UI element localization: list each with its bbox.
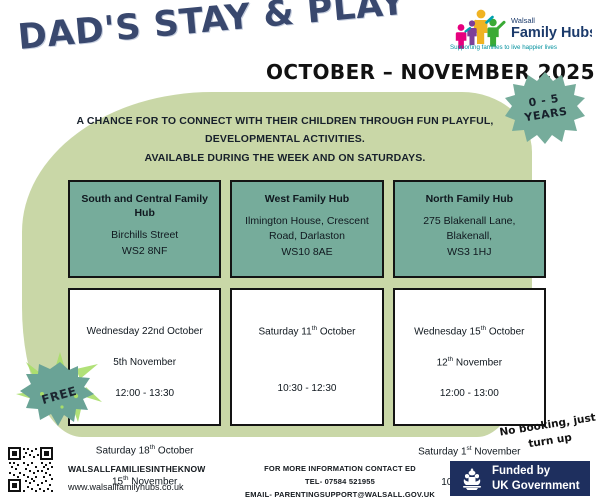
contact-line-1: FOR MORE INFORMATION CONTACT ED <box>232 462 448 475</box>
svg-text:Supporting families to live ha: Supporting families to live happier live… <box>450 44 557 51</box>
schedule-time: 12:00 - 13:00 <box>401 386 538 402</box>
contact-line-3: EMAIL- PARENTINGSUPPORT@WALSALL.GOV.UK <box>232 488 448 501</box>
walsall-family-hubs-logo: Walsall Family Hubs Supporting families … <box>448 6 592 52</box>
age-range-badge: 0 - 5 YEARS <box>505 72 585 144</box>
intro-line-2: DEVELOPMENTAL ACTIVITIES. <box>60 130 510 148</box>
venue-card-south-central: South and Central Family Hub Birchills S… <box>68 180 221 278</box>
schedule-day: Wednesday 22nd October <box>76 324 213 340</box>
poster-canvas: DAD'S STAY & PLAY OCTOBER – NOVEMBER 202… <box>0 0 600 501</box>
venue-name: West Family Hub <box>240 192 373 206</box>
qr-code[interactable] <box>7 446 54 493</box>
schedule-day: Saturday 11th October <box>238 324 375 340</box>
venue-card-north: North Family Hub 275 Blakenall Lane, Bla… <box>393 180 546 278</box>
schedule-day: Saturday 18th October <box>76 443 213 459</box>
schedule-card-west: Saturday 11th October 10:30 - 12:30 <box>230 288 383 426</box>
social-block: WALSALLFAMILIESINTHEKNOW www.walsallfami… <box>68 464 205 492</box>
venue-address: Birchills Street WS2 8NF <box>78 228 211 258</box>
intro-paragraph: A CHANCE FOR TO CONNECT WITH THEIR CHILD… <box>60 112 510 167</box>
venue-address: 275 Blakenall Lane, Blakenall, WS3 1HJ <box>403 214 536 260</box>
venue-row: South and Central Family Hub Birchills S… <box>68 180 546 278</box>
svg-text:Family Hubs: Family Hubs <box>511 25 592 41</box>
schedule-block: Wednesday 15th October 12th November 12:… <box>401 308 538 417</box>
schedule-day: Wednesday 15th October <box>401 324 538 340</box>
schedule-block: Saturday 11th October 10:30 - 12:30 <box>238 308 375 412</box>
funded-by-label: Funded by UK Government <box>492 464 580 492</box>
contact-block: FOR MORE INFORMATION CONTACT ED TEL- 075… <box>232 462 448 501</box>
funded-by-uk-government-logo: Funded by UK Government <box>450 461 590 496</box>
contact-line-2: TEL- 07584 521955 <box>232 475 448 488</box>
venue-address: Ilmington House, Crescent Road, Darlasto… <box>240 214 373 260</box>
schedule-card-north: Wednesday 15th October 12th November 12:… <box>393 288 546 426</box>
venue-name: North Family Hub <box>403 192 536 206</box>
qr-code-icon <box>7 446 54 493</box>
svg-text:Walsall: Walsall <box>511 16 535 25</box>
schedule-extra-day: 12th November <box>401 355 538 371</box>
intro-line-3: AVAILABLE DURING THE WEEK AND ON SATURDA… <box>60 149 510 167</box>
schedule-row: Wednesday 22nd October 5th November 12:0… <box>68 288 546 426</box>
free-badge: FREE <box>14 350 106 432</box>
page-title: DAD'S STAY & PLAY <box>16 0 407 58</box>
logo-figures-icon: Walsall Family Hubs Supporting families … <box>448 6 592 52</box>
schedule-time: 10:30 - 12:30 <box>238 381 375 397</box>
intro-line-1: A CHANCE FOR TO CONNECT WITH THEIR CHILD… <box>60 112 510 130</box>
royal-crest-icon <box>459 467 485 491</box>
website-url[interactable]: www.walsallfamilyhubs.co.uk <box>68 482 205 492</box>
social-handle: WALSALLFAMILIESINTHEKNOW <box>68 464 205 474</box>
venue-card-west: West Family Hub Ilmington House, Crescen… <box>230 180 383 278</box>
venue-name: South and Central Family Hub <box>78 192 211 220</box>
